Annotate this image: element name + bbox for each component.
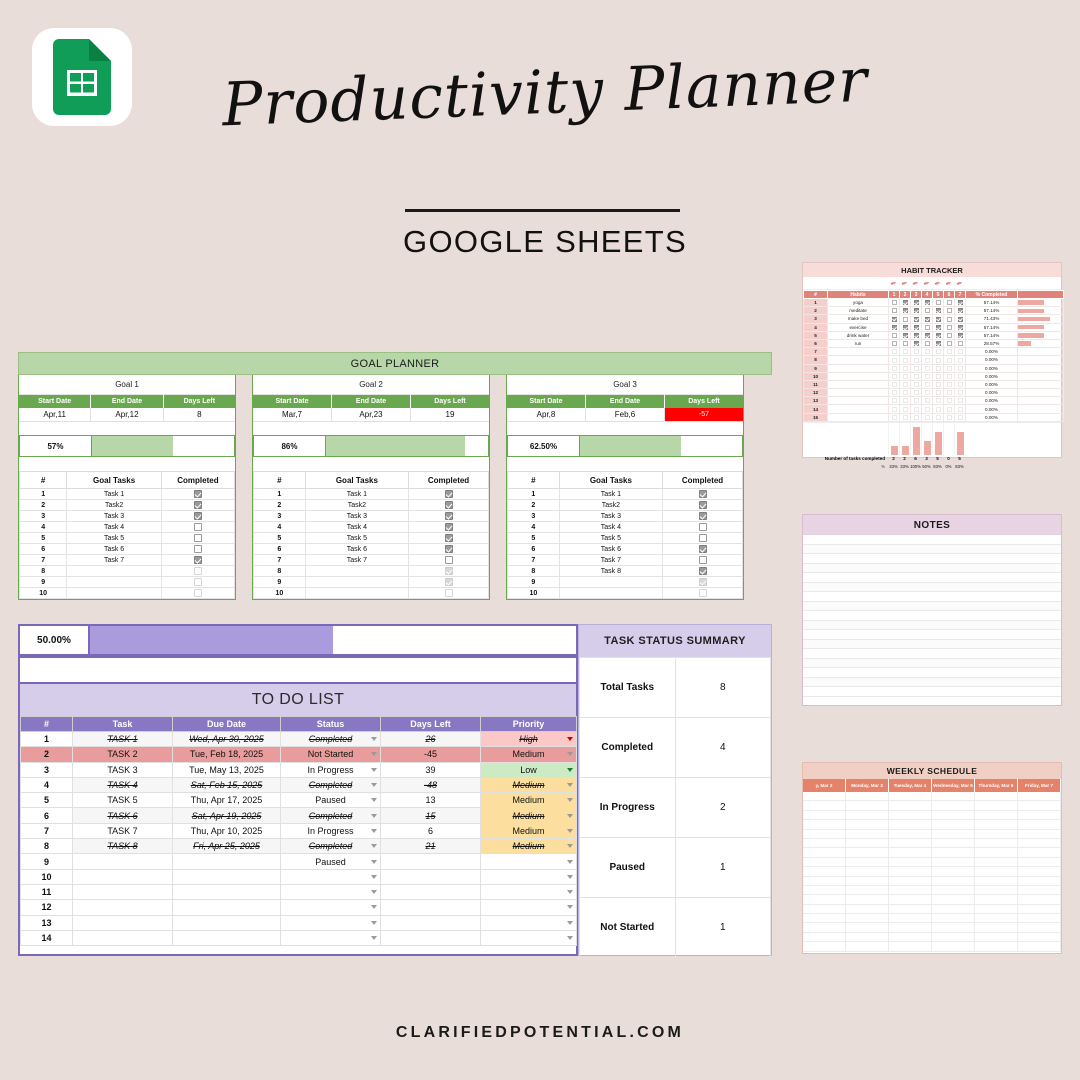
- weekly-cell[interactable]: [932, 905, 975, 914]
- weekly-cell[interactable]: [889, 905, 932, 914]
- chevron-down-icon[interactable]: [371, 798, 377, 802]
- habit-check-cell[interactable]: [889, 372, 900, 380]
- chevron-down-icon[interactable]: [371, 921, 377, 925]
- weekly-cell[interactable]: [889, 895, 932, 904]
- habit-check-cell[interactable]: [933, 405, 944, 413]
- habit-checkbox[interactable]: [936, 374, 941, 379]
- todo-priority[interactable]: High: [481, 732, 577, 747]
- todo-priority[interactable]: [481, 930, 577, 945]
- goal-task-completed-cell[interactable]: [409, 500, 489, 511]
- weekly-cell[interactable]: [889, 914, 932, 923]
- goal-task-completed-cell[interactable]: [161, 500, 234, 511]
- habit-check-cell[interactable]: [955, 413, 966, 421]
- goal-task-checkbox[interactable]: [699, 589, 707, 597]
- weekly-cell[interactable]: [932, 942, 975, 951]
- habit-checkbox[interactable]: [914, 349, 919, 354]
- habit-checkbox[interactable]: [936, 341, 941, 346]
- chevron-down-icon[interactable]: [371, 752, 377, 756]
- habit-checkbox[interactable]: [947, 333, 952, 338]
- goal-task-checkbox[interactable]: [194, 545, 202, 553]
- weekly-cell[interactable]: [846, 848, 889, 857]
- habit-check-cell[interactable]: [922, 307, 933, 315]
- habit-check-cell[interactable]: [933, 372, 944, 380]
- habit-checkbox[interactable]: [914, 300, 919, 305]
- todo-task[interactable]: [73, 854, 173, 869]
- todo-task[interactable]: [73, 900, 173, 915]
- todo-task[interactable]: TASK 3: [73, 762, 173, 777]
- habit-check-cell[interactable]: [900, 331, 911, 339]
- weekly-cell[interactable]: [1018, 858, 1061, 867]
- weekly-cell[interactable]: [932, 877, 975, 886]
- habit-checkbox[interactable]: [925, 366, 930, 371]
- goal-task-checkbox[interactable]: [699, 556, 707, 564]
- habit-checkbox[interactable]: [914, 382, 919, 387]
- weekly-cell[interactable]: [846, 811, 889, 820]
- weekly-cell[interactable]: [889, 933, 932, 942]
- goal-task-checkbox[interactable]: [699, 534, 707, 542]
- note-line[interactable]: [803, 659, 1061, 669]
- habit-check-cell[interactable]: [889, 307, 900, 315]
- weekly-cell[interactable]: [932, 895, 975, 904]
- habit-checkbox[interactable]: [925, 398, 930, 403]
- todo-priority[interactable]: [481, 915, 577, 930]
- habit-check-cell[interactable]: [889, 339, 900, 347]
- chevron-down-icon[interactable]: [567, 768, 573, 772]
- weekly-cell[interactable]: [803, 858, 846, 867]
- chevron-down-icon[interactable]: [371, 814, 377, 818]
- note-line[interactable]: [803, 554, 1061, 564]
- habit-check-cell[interactable]: [889, 389, 900, 397]
- habit-check-cell[interactable]: [944, 307, 955, 315]
- weekly-cell[interactable]: [932, 923, 975, 932]
- goal-task-completed-cell[interactable]: [161, 577, 234, 588]
- habit-name[interactable]: yoga: [828, 299, 889, 307]
- todo-priority[interactable]: Medium: [481, 823, 577, 838]
- habit-checkbox[interactable]: [892, 333, 897, 338]
- habit-check-cell[interactable]: [933, 413, 944, 421]
- habit-check-cell[interactable]: [955, 339, 966, 347]
- weekly-cell[interactable]: [975, 886, 1018, 895]
- todo-status[interactable]: Completed: [281, 732, 381, 747]
- habit-checkbox[interactable]: [892, 317, 897, 322]
- habit-check-cell[interactable]: [889, 315, 900, 323]
- goal-task-checkbox[interactable]: [194, 534, 202, 542]
- habit-checkbox[interactable]: [903, 374, 908, 379]
- habit-checkbox[interactable]: [903, 382, 908, 387]
- weekly-cell[interactable]: [1018, 923, 1061, 932]
- weekly-cell[interactable]: [846, 914, 889, 923]
- habit-check-cell[interactable]: [955, 348, 966, 356]
- habit-checkbox[interactable]: [925, 300, 930, 305]
- habit-checkbox[interactable]: [958, 358, 963, 363]
- weekly-cell[interactable]: [846, 933, 889, 942]
- habit-checkbox[interactable]: [947, 325, 952, 330]
- weekly-cell[interactable]: [803, 801, 846, 810]
- goal-task-checkbox[interactable]: [699, 523, 707, 531]
- todo-due-date[interactable]: [173, 884, 281, 899]
- habit-checkbox[interactable]: [947, 341, 952, 346]
- habit-check-cell[interactable]: [911, 405, 922, 413]
- weekly-cell[interactable]: [889, 867, 932, 876]
- habit-check-cell[interactable]: [889, 364, 900, 372]
- goal-task-completed-cell[interactable]: [161, 533, 234, 544]
- habit-check-cell[interactable]: [911, 380, 922, 388]
- weekly-cell[interactable]: [1018, 801, 1061, 810]
- note-line[interactable]: [803, 621, 1061, 631]
- todo-status[interactable]: [281, 915, 381, 930]
- weekly-cell[interactable]: [1018, 811, 1061, 820]
- weekly-cell[interactable]: [889, 830, 932, 839]
- todo-task[interactable]: TASK 1: [73, 732, 173, 747]
- todo-due-date[interactable]: [173, 854, 281, 869]
- weekly-cell[interactable]: [889, 801, 932, 810]
- habit-check-cell[interactable]: [922, 356, 933, 364]
- weekly-cell[interactable]: [975, 848, 1018, 857]
- goal-task-completed-cell[interactable]: [161, 588, 234, 599]
- chevron-down-icon[interactable]: [371, 936, 377, 940]
- habit-checkbox[interactable]: [903, 317, 908, 322]
- habit-name[interactable]: exercise: [828, 323, 889, 331]
- goal-task-checkbox[interactable]: [445, 556, 453, 564]
- note-line[interactable]: [803, 535, 1061, 545]
- goal-task-checkbox[interactable]: [445, 578, 453, 586]
- habit-check-cell[interactable]: [933, 315, 944, 323]
- weekly-cell[interactable]: [975, 877, 1018, 886]
- habit-checkbox[interactable]: [925, 374, 930, 379]
- habit-check-cell[interactable]: [900, 397, 911, 405]
- note-line[interactable]: [803, 573, 1061, 583]
- habit-check-cell[interactable]: [955, 307, 966, 315]
- weekly-cell[interactable]: [846, 839, 889, 848]
- goal-task-completed-cell[interactable]: [409, 544, 489, 555]
- habit-checkbox[interactable]: [947, 317, 952, 322]
- goal-task-completed-cell[interactable]: [409, 511, 489, 522]
- habit-check-cell[interactable]: [889, 380, 900, 388]
- note-line[interactable]: [803, 668, 1061, 678]
- habit-name[interactable]: meditate: [828, 307, 889, 315]
- goal-task-checkbox[interactable]: [699, 490, 707, 498]
- habit-check-cell[interactable]: [944, 397, 955, 405]
- habit-checkbox[interactable]: [892, 308, 897, 313]
- habit-check-cell[interactable]: [900, 356, 911, 364]
- habit-checkbox[interactable]: [947, 374, 952, 379]
- habit-checkbox[interactable]: [936, 317, 941, 322]
- habit-check-cell[interactable]: [944, 299, 955, 307]
- habit-name[interactable]: [828, 348, 889, 356]
- goal-task-checkbox[interactable]: [445, 523, 453, 531]
- goal-task-checkbox[interactable]: [445, 512, 453, 520]
- todo-status[interactable]: Completed: [281, 839, 381, 854]
- todo-priority[interactable]: Medium: [481, 793, 577, 808]
- habit-check-cell[interactable]: [955, 364, 966, 372]
- weekly-cell[interactable]: [975, 942, 1018, 951]
- todo-status[interactable]: Paused: [281, 793, 381, 808]
- habit-check-cell[interactable]: [900, 380, 911, 388]
- habit-checkbox[interactable]: [892, 374, 897, 379]
- habit-check-cell[interactable]: [900, 339, 911, 347]
- note-line[interactable]: [803, 611, 1061, 621]
- habit-check-cell[interactable]: [944, 413, 955, 421]
- weekly-cell[interactable]: [932, 933, 975, 942]
- habit-checkbox[interactable]: [892, 382, 897, 387]
- weekly-cell[interactable]: [1018, 933, 1061, 942]
- goal-task-completed-cell[interactable]: [663, 588, 743, 599]
- goal-task-completed-cell[interactable]: [161, 555, 234, 566]
- weekly-cell[interactable]: [1018, 867, 1061, 876]
- todo-task[interactable]: [73, 884, 173, 899]
- chevron-down-icon[interactable]: [567, 875, 573, 879]
- goal-task-completed-cell[interactable]: [663, 555, 743, 566]
- todo-priority[interactable]: [481, 854, 577, 869]
- habit-check-cell[interactable]: [900, 307, 911, 315]
- note-line[interactable]: [803, 649, 1061, 659]
- habit-check-cell[interactable]: [911, 323, 922, 331]
- todo-due-date[interactable]: [173, 900, 281, 915]
- weekly-cell[interactable]: [846, 792, 889, 801]
- habit-check-cell[interactable]: [922, 397, 933, 405]
- habit-check-cell[interactable]: [922, 372, 933, 380]
- habit-checkbox[interactable]: [947, 308, 952, 313]
- habit-checkbox[interactable]: [892, 325, 897, 330]
- weekly-cell[interactable]: [975, 895, 1018, 904]
- goal-task-checkbox[interactable]: [194, 501, 202, 509]
- weekly-cell[interactable]: [932, 792, 975, 801]
- chevron-down-icon[interactable]: [371, 829, 377, 833]
- habit-check-cell[interactable]: [933, 397, 944, 405]
- weekly-cell[interactable]: [803, 792, 846, 801]
- todo-priority[interactable]: [481, 884, 577, 899]
- habit-checkbox[interactable]: [903, 358, 908, 363]
- habit-check-cell[interactable]: [955, 380, 966, 388]
- habit-checkbox[interactable]: [903, 366, 908, 371]
- weekly-cell[interactable]: [889, 792, 932, 801]
- weekly-cell[interactable]: [803, 811, 846, 820]
- weekly-cell[interactable]: [803, 839, 846, 848]
- weekly-cell[interactable]: [1018, 820, 1061, 829]
- goal-task-completed-cell[interactable]: [409, 588, 489, 599]
- weekly-cell[interactable]: [889, 877, 932, 886]
- habit-name[interactable]: run: [828, 339, 889, 347]
- habit-checkbox[interactable]: [958, 398, 963, 403]
- habit-checkbox[interactable]: [958, 407, 963, 412]
- goal-task-checkbox[interactable]: [445, 490, 453, 498]
- habit-check-cell[interactable]: [944, 356, 955, 364]
- habit-name[interactable]: [828, 405, 889, 413]
- habit-checkbox[interactable]: [914, 341, 919, 346]
- todo-status[interactable]: Completed: [281, 808, 381, 823]
- habit-check-cell[interactable]: [911, 307, 922, 315]
- habit-check-cell[interactable]: [955, 389, 966, 397]
- habit-check-cell[interactable]: [933, 364, 944, 372]
- habit-check-cell[interactable]: [911, 299, 922, 307]
- goal-task-completed-cell[interactable]: [161, 522, 234, 533]
- weekly-cell[interactable]: [803, 895, 846, 904]
- goal-task-checkbox[interactable]: [445, 589, 453, 597]
- weekly-cell[interactable]: [803, 914, 846, 923]
- habit-checkbox[interactable]: [958, 374, 963, 379]
- habit-checkbox[interactable]: [936, 382, 941, 387]
- todo-status[interactable]: In Progress: [281, 762, 381, 777]
- weekly-cell[interactable]: [1018, 848, 1061, 857]
- todo-task[interactable]: [73, 915, 173, 930]
- habit-checkbox[interactable]: [903, 325, 908, 330]
- habit-check-cell[interactable]: [911, 331, 922, 339]
- goal-task-checkbox[interactable]: [445, 501, 453, 509]
- habit-checkbox[interactable]: [947, 349, 952, 354]
- habit-check-cell[interactable]: [922, 405, 933, 413]
- habit-checkbox[interactable]: [936, 308, 941, 313]
- chevron-down-icon[interactable]: [567, 905, 573, 909]
- weekly-cell[interactable]: [975, 867, 1018, 876]
- habit-name[interactable]: make bed: [828, 315, 889, 323]
- weekly-cell[interactable]: [1018, 839, 1061, 848]
- habit-checkbox[interactable]: [892, 398, 897, 403]
- habit-check-cell[interactable]: [911, 348, 922, 356]
- goal-task-completed-cell[interactable]: [663, 533, 743, 544]
- chevron-down-icon[interactable]: [567, 798, 573, 802]
- habit-checkbox[interactable]: [936, 390, 941, 395]
- chevron-down-icon[interactable]: [567, 829, 573, 833]
- goal-task-checkbox[interactable]: [445, 567, 453, 575]
- weekly-cell[interactable]: [932, 848, 975, 857]
- habit-checkbox[interactable]: [936, 398, 941, 403]
- habit-check-cell[interactable]: [911, 339, 922, 347]
- todo-task[interactable]: TASK 5: [73, 793, 173, 808]
- goal-task-completed-cell[interactable]: [663, 566, 743, 577]
- habit-check-cell[interactable]: [911, 364, 922, 372]
- habit-check-cell[interactable]: [944, 389, 955, 397]
- habit-name[interactable]: [828, 380, 889, 388]
- habit-check-cell[interactable]: [889, 397, 900, 405]
- weekly-cell[interactable]: [846, 905, 889, 914]
- habit-check-cell[interactable]: [889, 348, 900, 356]
- note-line[interactable]: [803, 564, 1061, 574]
- habit-check-cell[interactable]: [922, 323, 933, 331]
- habit-check-cell[interactable]: [955, 299, 966, 307]
- todo-status[interactable]: Completed: [281, 777, 381, 792]
- habit-name[interactable]: [828, 356, 889, 364]
- todo-due-date[interactable]: Sat, Feb 15, 2025: [173, 777, 281, 792]
- habit-check-cell[interactable]: [900, 364, 911, 372]
- habit-check-cell[interactable]: [933, 323, 944, 331]
- weekly-cell[interactable]: [932, 858, 975, 867]
- habit-check-cell[interactable]: [944, 380, 955, 388]
- chevron-down-icon[interactable]: [567, 737, 573, 741]
- goal-task-completed-cell[interactable]: [663, 500, 743, 511]
- habit-check-cell[interactable]: [900, 315, 911, 323]
- habit-checkbox[interactable]: [914, 407, 919, 412]
- weekly-cell[interactable]: [975, 923, 1018, 932]
- habit-check-cell[interactable]: [933, 299, 944, 307]
- habit-check-cell[interactable]: [933, 348, 944, 356]
- chevron-down-icon[interactable]: [567, 783, 573, 787]
- habit-check-cell[interactable]: [911, 397, 922, 405]
- habit-checkbox[interactable]: [925, 317, 930, 322]
- habit-check-cell[interactable]: [955, 405, 966, 413]
- weekly-cell[interactable]: [975, 811, 1018, 820]
- habit-check-cell[interactable]: [900, 372, 911, 380]
- weekly-cell[interactable]: [932, 811, 975, 820]
- weekly-schedule-body[interactable]: [803, 792, 1061, 952]
- weekly-cell[interactable]: [889, 839, 932, 848]
- habit-check-cell[interactable]: [944, 364, 955, 372]
- habit-check-cell[interactable]: [889, 356, 900, 364]
- goal-task-checkbox[interactable]: [699, 501, 707, 509]
- habit-checkbox[interactable]: [947, 382, 952, 387]
- habit-check-cell[interactable]: [900, 299, 911, 307]
- goal-task-completed-cell[interactable]: [409, 533, 489, 544]
- habit-check-cell[interactable]: [922, 339, 933, 347]
- habit-check-cell[interactable]: [944, 372, 955, 380]
- habit-check-cell[interactable]: [922, 348, 933, 356]
- todo-due-date[interactable]: Fri, Apr 25, 2025: [173, 839, 281, 854]
- weekly-cell[interactable]: [932, 820, 975, 829]
- habit-check-cell[interactable]: [922, 315, 933, 323]
- chevron-down-icon[interactable]: [371, 890, 377, 894]
- goal-task-completed-cell[interactable]: [161, 511, 234, 522]
- habit-checkbox[interactable]: [892, 300, 897, 305]
- habit-check-cell[interactable]: [922, 331, 933, 339]
- chevron-down-icon[interactable]: [371, 737, 377, 741]
- weekly-cell[interactable]: [932, 830, 975, 839]
- weekly-cell[interactable]: [889, 942, 932, 951]
- todo-status[interactable]: Not Started: [281, 747, 381, 762]
- habit-check-cell[interactable]: [933, 389, 944, 397]
- habit-name[interactable]: [828, 372, 889, 380]
- habit-name[interactable]: [828, 413, 889, 421]
- weekly-cell[interactable]: [846, 895, 889, 904]
- goal-task-checkbox[interactable]: [699, 567, 707, 575]
- goal-task-completed-cell[interactable]: [663, 511, 743, 522]
- habit-name[interactable]: [828, 364, 889, 372]
- weekly-cell[interactable]: [975, 792, 1018, 801]
- goal-task-checkbox[interactable]: [445, 545, 453, 553]
- goal-task-completed-cell[interactable]: [409, 489, 489, 500]
- habit-checkbox[interactable]: [892, 366, 897, 371]
- habit-check-cell[interactable]: [933, 339, 944, 347]
- weekly-cell[interactable]: [889, 886, 932, 895]
- todo-priority[interactable]: Medium: [481, 839, 577, 854]
- weekly-cell[interactable]: [803, 923, 846, 932]
- weekly-cell[interactable]: [803, 848, 846, 857]
- habit-check-cell[interactable]: [955, 372, 966, 380]
- weekly-cell[interactable]: [846, 858, 889, 867]
- habit-check-cell[interactable]: [900, 323, 911, 331]
- habit-checkbox[interactable]: [947, 415, 952, 420]
- habit-checkbox[interactable]: [947, 398, 952, 403]
- habit-checkbox[interactable]: [925, 308, 930, 313]
- habit-checkbox[interactable]: [914, 398, 919, 403]
- goal-task-completed-cell[interactable]: [409, 577, 489, 588]
- habit-checkbox[interactable]: [947, 300, 952, 305]
- habit-name[interactable]: drink water: [828, 331, 889, 339]
- goal-task-completed-cell[interactable]: [161, 566, 234, 577]
- habit-checkbox[interactable]: [903, 398, 908, 403]
- goal-task-checkbox[interactable]: [699, 512, 707, 520]
- note-line[interactable]: [803, 687, 1061, 697]
- habit-checkbox[interactable]: [903, 341, 908, 346]
- todo-task[interactable]: TASK 4: [73, 777, 173, 792]
- habit-check-cell[interactable]: [933, 380, 944, 388]
- goal-task-checkbox[interactable]: [445, 534, 453, 542]
- goal-task-completed-cell[interactable]: [161, 489, 234, 500]
- chevron-down-icon[interactable]: [567, 890, 573, 894]
- todo-priority[interactable]: [481, 900, 577, 915]
- habit-checkbox[interactable]: [903, 390, 908, 395]
- habit-check-cell[interactable]: [911, 315, 922, 323]
- habit-check-cell[interactable]: [911, 372, 922, 380]
- chevron-down-icon[interactable]: [567, 752, 573, 756]
